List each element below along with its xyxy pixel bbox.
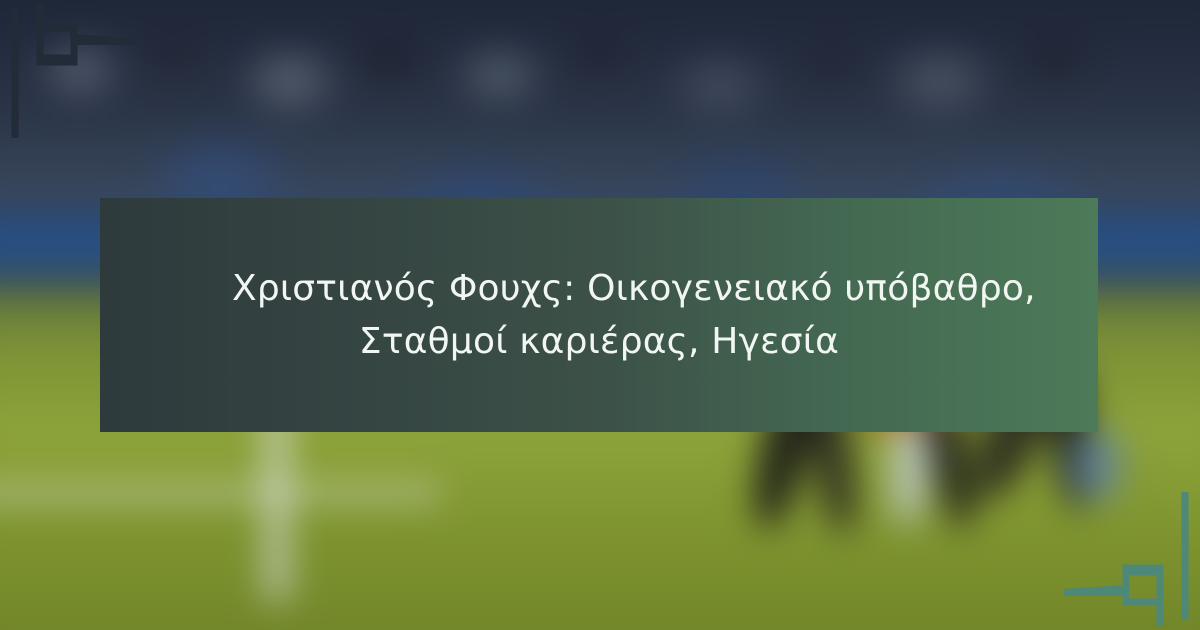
title-overlay-panel: Χριστιανός Φουχς: Οικογενειακό υπόβαθρο,… — [100, 198, 1098, 432]
page-title: Χριστιανός Φουχς: Οικογενειακό υπόβαθρο,… — [204, 262, 994, 368]
social-share-card: Χριστιανός Φουχς: Οικογενειακό υπόβαθρο,… — [0, 0, 1200, 630]
bottom-right-corner-bracket-icon — [1050, 480, 1200, 630]
page-title-line-2: Σταθμοί καριέρας, Ηγεσία — [232, 315, 966, 368]
top-left-corner-bracket-icon — [0, 0, 150, 150]
photo-pitch-line — [0, 480, 440, 506]
page-title-line-1: Χριστιανός Φουχς: Οικογενειακό υπόβαθρο, — [232, 262, 966, 315]
